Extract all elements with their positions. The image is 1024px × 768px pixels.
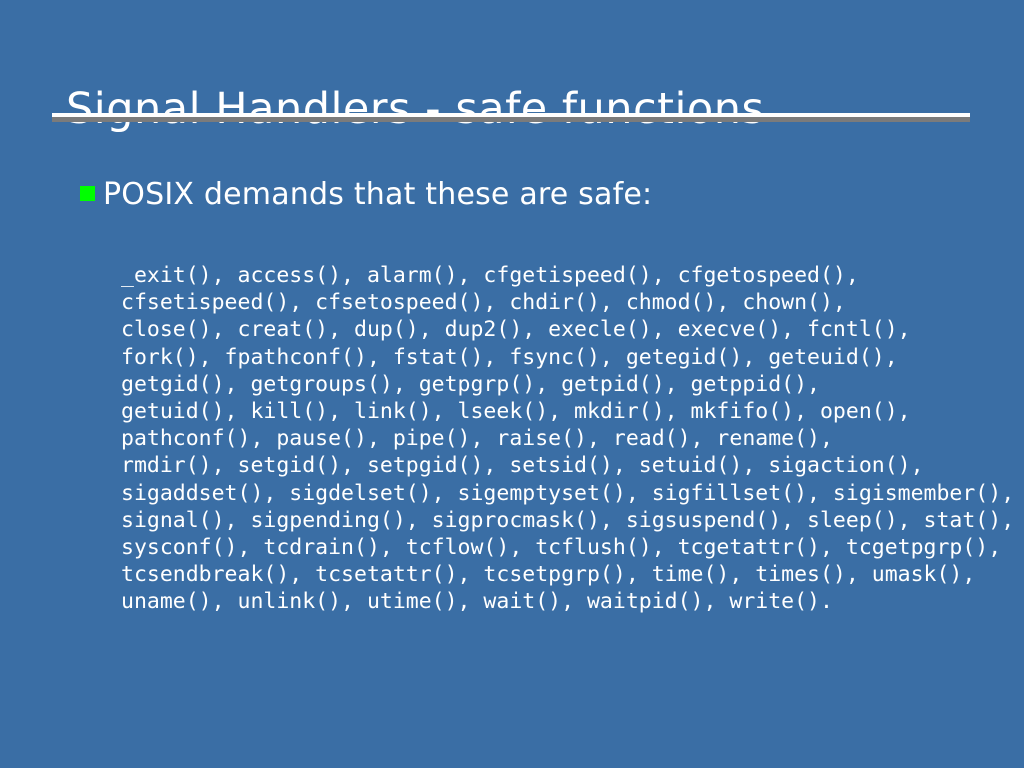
title-underline-shadow xyxy=(52,117,970,122)
function-list-line: _exit(), access(), alarm(), cfgetispeed(… xyxy=(121,262,1001,289)
function-list-line: cfsetispeed(), cfsetospeed(), chdir(), c… xyxy=(121,289,1001,316)
function-list-line: getgid(), getgroups(), getpgrp(), getpid… xyxy=(121,371,1001,398)
function-list-line: pathconf(), pause(), pipe(), raise(), re… xyxy=(121,425,1001,452)
bullet-list-item: POSIX demands that these are safe: xyxy=(80,176,980,214)
function-list-line: close(), creat(), dup(), dup2(), execle(… xyxy=(121,316,1001,343)
square-bullet-icon xyxy=(80,186,95,201)
function-list-line: tcsendbreak(), tcsetattr(), tcsetpgrp(),… xyxy=(121,561,1001,588)
function-list-line: sigaddset(), sigdelset(), sigemptyset(),… xyxy=(121,480,1001,507)
page-title: Signal Handlers - safe functions xyxy=(66,83,976,135)
function-list-line: signal(), sigpending(), sigprocmask(), s… xyxy=(121,507,1001,534)
function-list-line: fork(), fpathconf(), fstat(), fsync(), g… xyxy=(121,344,1001,371)
presentation-slide: Signal Handlers - safe functions POSIX d… xyxy=(0,0,1024,768)
safe-function-list: _exit(), access(), alarm(), cfgetispeed(… xyxy=(121,262,1001,616)
function-list-line: uname(), unlink(), utime(), wait(), wait… xyxy=(121,588,1001,615)
function-list-line: rmdir(), setgid(), setpgid(), setsid(), … xyxy=(121,452,1001,479)
bullet-item-label: POSIX demands that these are safe: xyxy=(103,176,652,214)
function-list-line: getuid(), kill(), link(), lseek(), mkdir… xyxy=(121,398,1001,425)
function-list-line: sysconf(), tcdrain(), tcflow(), tcflush(… xyxy=(121,534,1001,561)
